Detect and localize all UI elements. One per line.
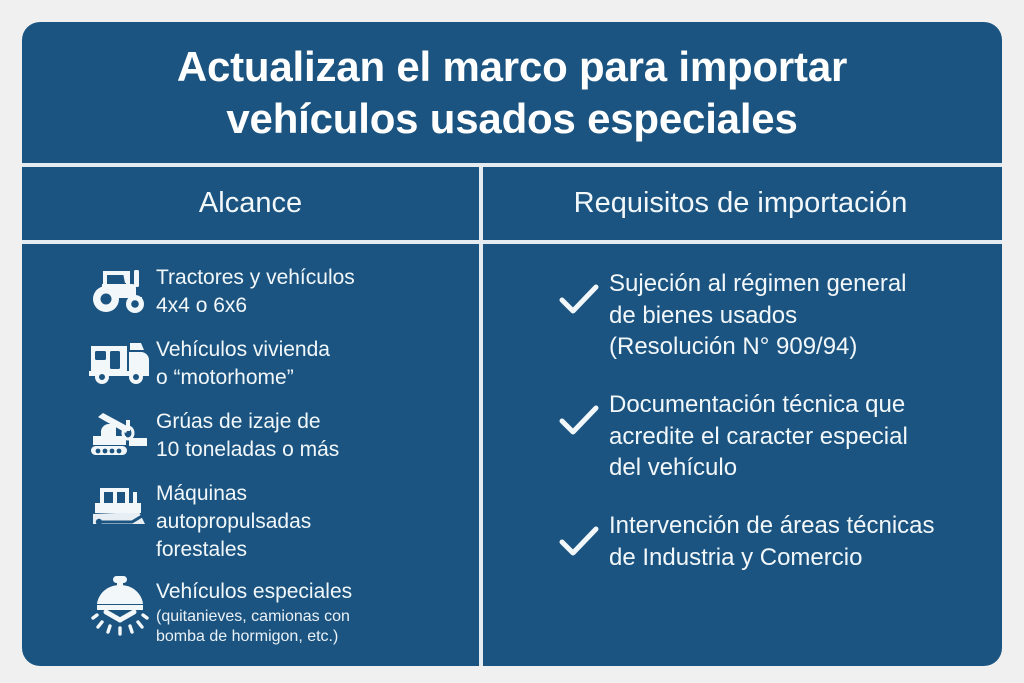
list-item: Tractores y vehículos 4x4 o 6x6 xyxy=(84,260,461,322)
requirements-column: Sujeción al régimen general de bienes us… xyxy=(479,244,1002,666)
crane-icon xyxy=(84,404,156,466)
list-item: Sujeción al régimen general de bienes us… xyxy=(549,266,978,363)
scope-item-texts: Tractores y vehículos 4x4 o 6x6 xyxy=(156,260,355,320)
list-item: Vehículos especiales (quitanieves, camio… xyxy=(84,574,461,649)
scope-item-texts: Máquinas autopropulsadas forestales xyxy=(156,476,311,564)
motorhome-icon xyxy=(84,332,156,394)
column-headers-row: Alcance Requisitos de importación xyxy=(22,167,1002,240)
column-header-requirements: Requisitos de importación xyxy=(479,167,1002,240)
scope-item-texts: Vehículos especiales (quitanieves, camio… xyxy=(156,574,352,649)
scope-item-texts: Vehículos vivienda o “motorhome” xyxy=(156,332,330,392)
tractor-icon xyxy=(84,260,156,322)
special-vehicle-icon xyxy=(84,574,156,636)
bulldozer-icon xyxy=(84,476,156,538)
column-header-scope: Alcance xyxy=(22,167,479,240)
list-item-label: Vehículos especiales xyxy=(156,578,352,606)
list-item-label: Documentación técnica que acredite el ca… xyxy=(609,387,908,484)
list-item-label: Sujeción al régimen general de bienes us… xyxy=(609,266,907,363)
check-icon xyxy=(549,387,609,437)
list-item-sublabel: (quitanieves, camionas con bomba de horm… xyxy=(156,607,352,649)
check-icon xyxy=(549,508,609,558)
list-item: Grúas de izaje de 10 toneladas o más xyxy=(84,404,461,466)
scope-item-texts: Grúas de izaje de 10 toneladas o más xyxy=(156,404,339,464)
scope-column: Tractores y vehículos 4x4 o 6x6 xyxy=(22,244,479,666)
list-item-label: Grúas de izaje de 10 toneladas o más xyxy=(156,408,339,464)
title-band: Actualizan el marco para importar vehícu… xyxy=(22,22,1002,163)
content-row: Tractores y vehículos 4x4 o 6x6 xyxy=(22,244,1002,666)
check-icon xyxy=(549,266,609,316)
list-item-label: Tractores y vehículos 4x4 o 6x6 xyxy=(156,264,355,320)
list-item: Vehículos vivienda o “motorhome” xyxy=(84,332,461,394)
list-item-label: Intervención de áreas técnicas de Indust… xyxy=(609,508,935,573)
list-item: Documentación técnica que acredite el ca… xyxy=(549,387,978,484)
list-item-label: Máquinas autopropulsadas forestales xyxy=(156,480,311,564)
list-item-label: Vehículos vivienda o “motorhome” xyxy=(156,336,330,392)
infographic-card: Actualizan el marco para importar vehícu… xyxy=(22,22,1002,666)
column-header-scope-label: Alcance xyxy=(199,187,302,220)
list-item: Intervención de áreas técnicas de Indust… xyxy=(549,508,978,573)
column-header-requirements-label: Requisitos de importación xyxy=(574,187,908,220)
page-title: Actualizan el marco para importar vehícu… xyxy=(137,41,887,143)
list-item: Máquinas autopropulsadas forestales xyxy=(84,476,461,564)
